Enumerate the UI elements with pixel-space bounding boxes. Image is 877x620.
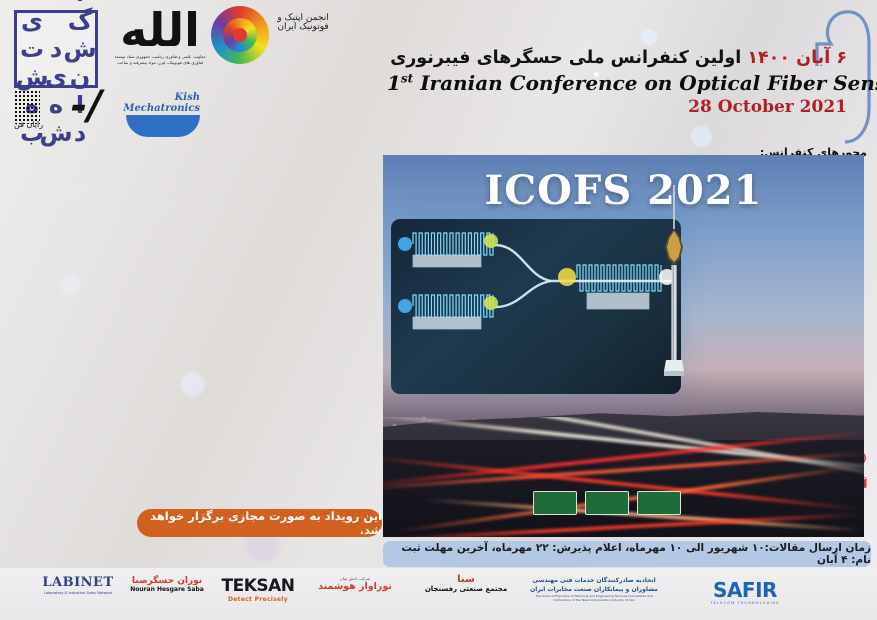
nouran-persian-name: نوران حسگرصبا [115, 576, 219, 586]
allah-emblem-icon: الله [110, 8, 210, 52]
fiber-sensor-diagram [391, 219, 681, 394]
title-ordinal-number: 1 [387, 71, 401, 95]
milad-tower-icon [661, 185, 687, 415]
union-persian-name: اتحادیه صادرکنندگان خدمات فنی مهندسی مشا… [530, 576, 658, 594]
background-streak [619, 0, 720, 19]
title-ordinal-suffix: st [401, 71, 413, 85]
title-persian-date: ۶ آبان ۱۴۰۰ [747, 48, 847, 68]
teksan-name: TEKSAN [210, 578, 306, 596]
background-streak [222, 254, 324, 323]
deadlines-bar-text: زمان ارسال مقالات:۱۰ شهریور الی ۱۰ مهرما… [383, 542, 871, 566]
light-source-glow [398, 237, 412, 251]
labinet-name: LABINET [30, 576, 126, 590]
labinet-subtitle: Laboratory & Industrial Sales Network [30, 591, 126, 595]
title-english-text: Iranian Conference on Optical Fiber Sens… [420, 71, 877, 95]
nouravar-persian-name: نوراوار هوشمند [300, 581, 410, 592]
safir-name: SAFIR [685, 580, 805, 601]
sensor-element [413, 317, 481, 329]
sponsor-strip: LABINET Laboratory & Industrial Sales Ne… [0, 568, 877, 620]
title-persian-line: ۶ آبان ۱۴۰۰ اولین کنفرانس ملی حسگرهای فی… [387, 48, 847, 70]
vice-presidency-caption: معاونت علمی و فناوری ریاست جمهوری ستاد ت… [110, 54, 210, 67]
saba-caption: مجتمع صنعتی رفسنجان [420, 585, 512, 593]
fiber-coil [577, 265, 661, 291]
light-source-glow [398, 299, 412, 313]
logo-shahid-beheshti-university: دانشگاه شهید بهشتی [14, 10, 98, 88]
kish-mechatronics-label: Kish Mechatronics [110, 92, 200, 114]
background-streak [30, 161, 148, 211]
safir-subtitle: TELECOM TECHNOLOGIES [685, 601, 805, 605]
highway-sign [533, 491, 577, 515]
background-streak [157, 341, 217, 398]
background-streak [293, 300, 390, 407]
sponsor-labinet: LABINET Laboratory & Industrial Sales Ne… [30, 576, 126, 595]
title-persian-text: اولین کنفرانس ملی حسگرهای فیبرنوری [390, 48, 741, 68]
kish-swoosh-icon [126, 115, 200, 137]
rainbow-ring-icon [211, 6, 269, 64]
rayan-fan-dot-pattern-icon [14, 90, 40, 124]
logo-optics-photonics-society-of-iran [203, 6, 269, 72]
sponsor-teksan: TEKSAN Detect Precisely [210, 578, 306, 603]
sensor-element [413, 255, 481, 267]
virtual-event-notice: این رویداد به صورت مجازی برگزار خواهد شد… [137, 509, 382, 537]
fiber-waveguide [495, 281, 551, 307]
light-source-glow [558, 268, 576, 286]
background-streak [169, 229, 334, 428]
header-logo-group: دانشگاه شهید بهشتی الله معاونت علمی و فن… [0, 0, 380, 148]
fiber-coil [413, 295, 493, 317]
photo-headline: ICOFS 2021 [383, 167, 864, 214]
conference-title-block: ۶ آبان ۱۴۰۰ اولین کنفرانس ملی حسگرهای فی… [387, 48, 847, 117]
highway-sign [637, 491, 681, 515]
light-source-glow [484, 234, 498, 248]
title-english-line: 1st Iranian Conference on Optical Fiber … [387, 71, 847, 95]
teksan-tagline: Detect Precisely [210, 596, 306, 603]
saba-persian-name: سبا [420, 574, 512, 585]
background-streak [622, 0, 784, 18]
title-english-date: 28 October 2021 [387, 97, 847, 117]
conference-poster: دانشگاه شهید بهشتی الله معاونت علمی و فن… [0, 0, 877, 620]
union-english-name: The Union of Exporters of Technical and … [530, 594, 658, 602]
sponsor-nouran-hesgare-saba: نوران حسگرصبا Nouran Hesgare Saba [115, 576, 219, 593]
virtual-event-notice-text: این رویداد به صورت مجازی برگزار خواهد شد… [137, 509, 382, 537]
nouran-english-name: Nouran Hesgare Saba [115, 586, 219, 593]
sponsor-nouravar-hooshmand: شرکت دانش بنیان نوراوار هوشمند [300, 576, 410, 592]
logo-vice-presidency-science-technology: الله معاونت علمی و فناوری ریاست جمهوری س… [110, 8, 210, 86]
fiber-sensor-illustration [391, 219, 681, 394]
sensor-element [587, 293, 649, 309]
sponsor-safir: SAFIR TELECOM TECHNOLOGIES [685, 580, 805, 605]
background-streak [747, 0, 864, 42]
highway-sign [585, 491, 629, 515]
light-source-glow [484, 296, 498, 310]
logo-kish-mechatronics: Kish Mechatronics [110, 92, 200, 138]
highway-signs [533, 491, 681, 515]
deadlines-bar: زمان ارسال مقالات:۱۰ شهریور الی ۱۰ مهرما… [383, 541, 871, 567]
sponsor-union-telecom-services: اتحادیه صادرکنندگان خدمات فنی مهندسی مشا… [530, 576, 658, 602]
background-streak [79, 150, 235, 284]
fiber-coil [413, 233, 493, 255]
sponsor-saba-rafsanjan: سبا مجتمع صنعتی رفسنجان [420, 574, 512, 593]
logo-rayan-fan: /- رایان فن [14, 86, 102, 144]
opsi-persian-wordmark: انجمن اپتیک و فوتونیک ایران [268, 14, 338, 68]
background-streak [53, 307, 213, 396]
hero-photo: ICOFS 2021 [383, 155, 864, 537]
highway-light-trails [383, 417, 864, 537]
